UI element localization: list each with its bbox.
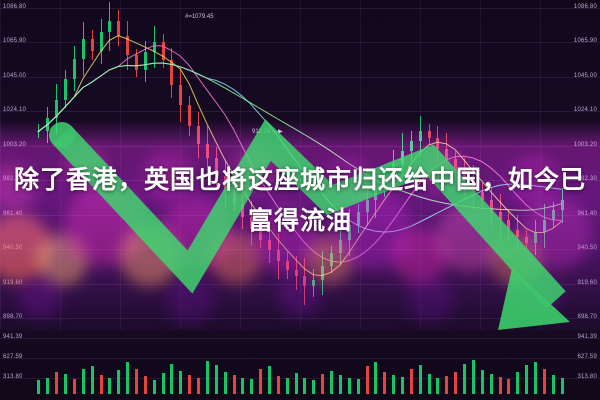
axis-tick-label: 1024.10 xyxy=(3,107,26,114)
volume-bar xyxy=(117,370,120,394)
axis-tick-label: 627.59 xyxy=(3,354,23,361)
volume-bar xyxy=(224,372,227,394)
axis-tick-label: 1086.80 xyxy=(3,4,26,11)
volume-bar xyxy=(108,378,111,394)
volume-bar xyxy=(233,375,236,394)
axis-tick-label: 1045.00 xyxy=(3,73,26,80)
candle-body xyxy=(170,60,173,85)
volume-bar xyxy=(277,376,280,394)
volume-bar xyxy=(436,378,439,394)
volume-bar xyxy=(188,375,191,394)
volume-bar xyxy=(445,376,448,394)
volume-bar xyxy=(295,373,298,394)
volume-bar xyxy=(206,361,209,394)
volume-bar xyxy=(543,369,546,394)
volume-bar xyxy=(241,378,244,394)
axis-tick-label: 313.80 xyxy=(3,374,23,381)
volume-bar xyxy=(481,370,484,394)
candle-body xyxy=(91,39,94,51)
candle-body xyxy=(82,39,85,59)
axis-tick-label: 627.59 xyxy=(577,354,597,361)
volume-bar xyxy=(330,371,333,394)
axis-tick-label: 313.80 xyxy=(577,374,597,381)
volume-bar xyxy=(73,379,76,394)
volume-bar xyxy=(499,377,502,394)
candle-body xyxy=(108,21,111,33)
candle-body xyxy=(153,42,156,52)
volume-bar xyxy=(507,379,510,394)
volume-bar xyxy=(348,378,351,394)
axis-tick-label: 941.39 xyxy=(577,334,597,341)
volume-bar xyxy=(392,375,395,394)
volume-bar xyxy=(303,378,306,394)
volume-bar xyxy=(37,380,40,394)
volume-bar xyxy=(428,374,431,394)
headline-text: 除了香港，英国也将这座城市归还给中国，如今已 富得流油 xyxy=(0,160,600,242)
axis-tick-label: 941.39 xyxy=(3,334,23,341)
volume-bar xyxy=(179,371,182,394)
volume-bar xyxy=(46,378,49,394)
volume-bar xyxy=(410,369,413,394)
volume-bar xyxy=(162,373,165,394)
axis-tick-label: 1045.00 xyxy=(574,73,597,80)
volume-bar xyxy=(339,375,342,394)
candle-body xyxy=(135,55,138,70)
volume-bar xyxy=(472,360,475,394)
candle-body xyxy=(117,21,120,36)
volume-bar xyxy=(401,377,404,394)
volume-bar xyxy=(55,372,58,394)
axis-tick-label: 1065.90 xyxy=(3,38,26,45)
headline-line-2: 富得流油 xyxy=(0,201,600,242)
volume-bar xyxy=(490,374,493,394)
candle-body xyxy=(126,36,129,56)
candle-body xyxy=(144,52,147,70)
volume-chart-panel: 941.39627.59313.80 941.39627.59313.80 xyxy=(0,330,600,400)
candle-body xyxy=(162,42,165,60)
volume-bar xyxy=(366,366,369,394)
volume-bar xyxy=(91,366,94,394)
gridline xyxy=(0,338,600,339)
volume-bar xyxy=(100,375,103,394)
volume-bar xyxy=(357,379,360,394)
volume-bar xyxy=(534,362,537,394)
volume-bar xyxy=(552,375,555,394)
volume-bar xyxy=(126,362,129,394)
volume-bar xyxy=(170,364,173,394)
volume-bar xyxy=(286,378,289,394)
axis-tick-label: 1086.80 xyxy=(574,4,597,11)
volume-bar xyxy=(135,369,138,394)
volume-bar xyxy=(64,374,67,394)
gridline xyxy=(0,378,600,379)
volume-bar xyxy=(321,374,324,394)
chart-annotation: #=1079.45 xyxy=(185,14,214,20)
volume-bar xyxy=(82,369,85,394)
volume-bar xyxy=(454,372,457,394)
volume-bar xyxy=(561,378,564,394)
volume-bar xyxy=(463,364,466,394)
candle-body xyxy=(55,100,58,118)
volume-bar xyxy=(268,366,271,394)
screenshot-root: 1086.801065.901045.001024.101003.20982.3… xyxy=(0,0,600,400)
volume-bar xyxy=(250,379,253,394)
volume-bar xyxy=(197,378,200,394)
axis-tick-label: 1024.10 xyxy=(574,107,597,114)
volume-bar xyxy=(215,365,218,394)
volume-bar xyxy=(312,380,315,394)
volume-bar xyxy=(153,380,156,394)
volume-bar xyxy=(374,362,377,394)
volume-bar xyxy=(144,376,147,394)
volume-bar xyxy=(419,365,422,394)
gridline xyxy=(0,358,600,359)
headline-line-1: 除了香港，英国也将这座城市归还给中国，如今已 xyxy=(0,160,600,201)
candle-body xyxy=(64,79,67,100)
volume-bar xyxy=(259,369,262,394)
candle-body xyxy=(179,85,182,105)
axis-tick-label: 1065.90 xyxy=(574,38,597,45)
volume-bar xyxy=(516,372,519,394)
candle-body xyxy=(73,59,76,79)
candle-body xyxy=(100,32,103,50)
volume-bar xyxy=(525,365,528,394)
volume-bar xyxy=(383,372,386,394)
